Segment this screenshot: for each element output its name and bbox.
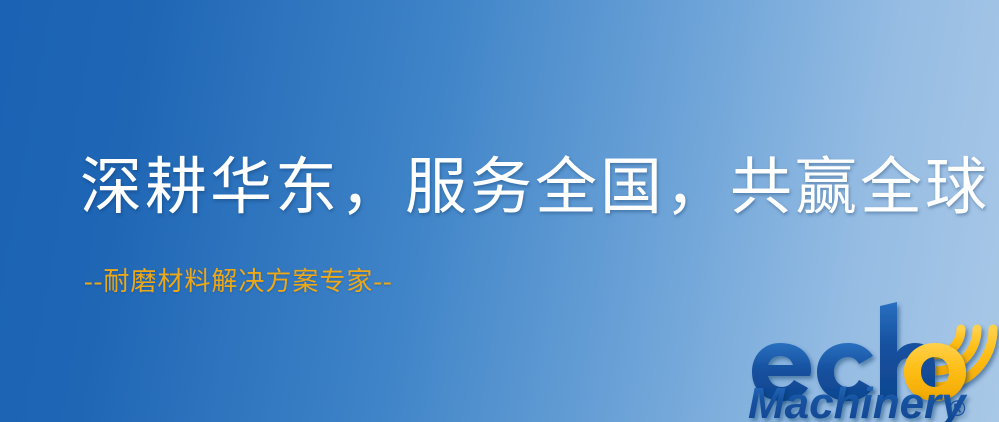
echo-machinery-logo: Machinery ®: [744, 292, 999, 422]
hero-banner: 深耕华东，服务全国，共赢全球 --耐磨材料解决方案专家--: [0, 0, 999, 422]
logo-artwork: Machinery ®: [744, 292, 999, 422]
banner-headline: 深耕华东，服务全国，共赢全球: [80, 152, 990, 224]
logo-registered-mark: ®: [949, 396, 966, 421]
logo-tagline-group: Machinery ®: [748, 379, 968, 422]
logo-tagline-machinery: Machinery: [748, 379, 968, 422]
banner-subheadline: --耐磨材料解决方案专家--: [84, 265, 393, 299]
